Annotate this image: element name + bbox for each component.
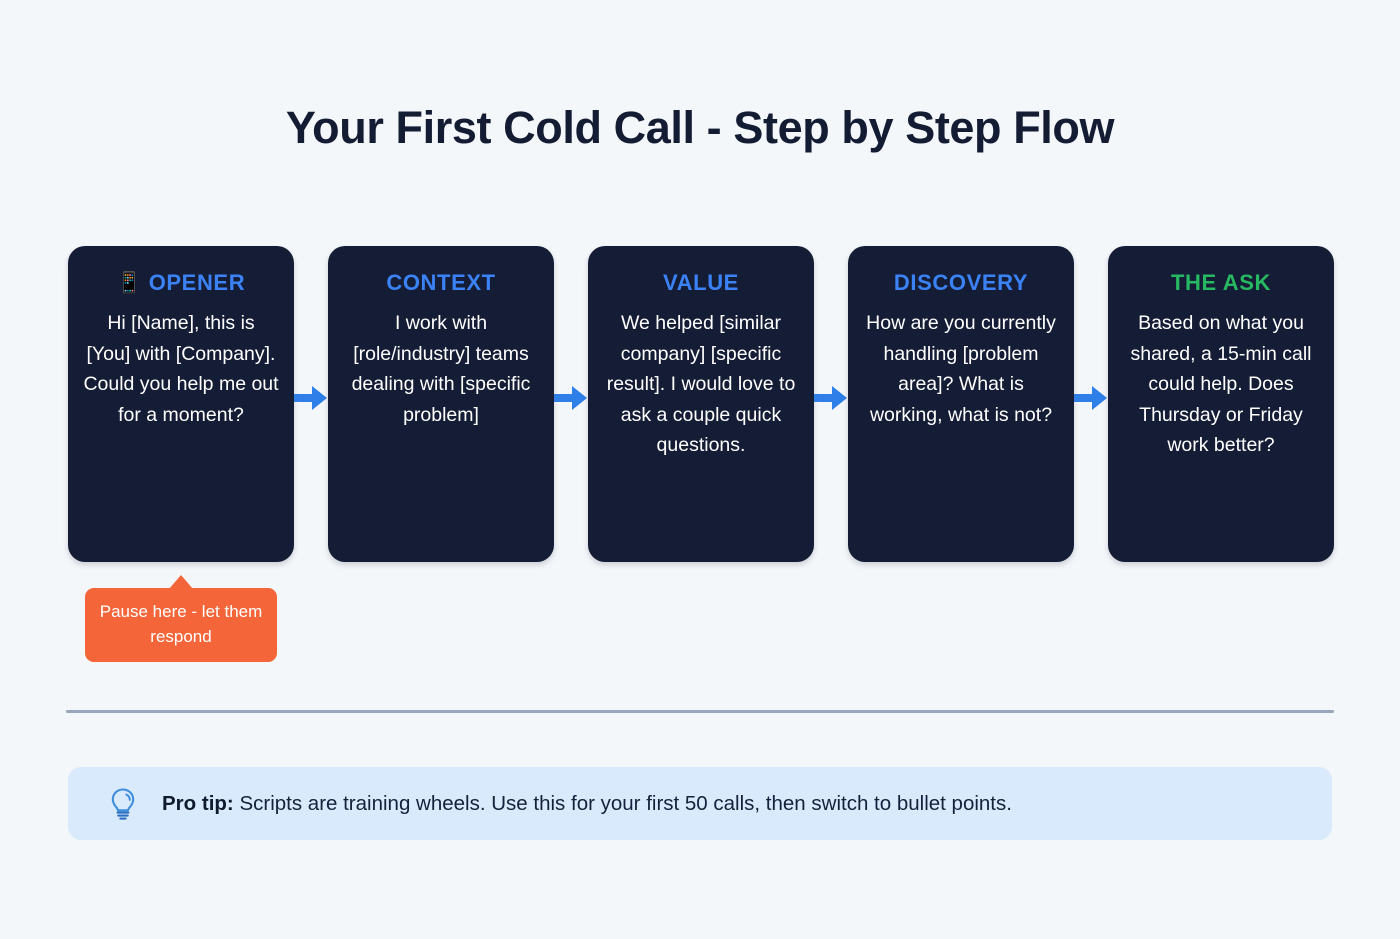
- step-label: CONTEXT: [386, 272, 495, 294]
- step-header: DISCOVERY: [894, 272, 1028, 294]
- step-body-text: How are you currently handling [problem …: [863, 308, 1059, 430]
- arrow-right-icon: [814, 383, 848, 413]
- pro-tip-text: Pro tip: Scripts are training wheels. Us…: [162, 790, 1012, 818]
- step-card-opener[interactable]: 📱 OPENER Hi [Name], this is [You] with […: [68, 246, 294, 562]
- step-label: THE ASK: [1171, 272, 1271, 294]
- step-header: VALUE: [663, 272, 739, 294]
- pro-tip-lead: Pro tip:: [162, 792, 234, 815]
- arrow-right-icon: [294, 383, 328, 413]
- arrow-right-icon: [554, 383, 588, 413]
- step-label: OPENER: [149, 272, 246, 294]
- step-body-text: Hi [Name], this is [You] with [Company].…: [83, 308, 279, 430]
- flow-steps-row: 📱 OPENER Hi [Name], this is [You] with […: [68, 246, 1332, 562]
- step-header: THE ASK: [1171, 272, 1271, 294]
- step-header: CONTEXT: [386, 272, 495, 294]
- step-card-discovery[interactable]: DISCOVERY How are you currently handling…: [848, 246, 1074, 562]
- pro-tip-bar: Pro tip: Scripts are training wheels. Us…: [68, 767, 1332, 840]
- callout-text: Pause here - let them respond: [100, 602, 263, 646]
- step-card-value[interactable]: VALUE We helped [similar company] [speci…: [588, 246, 814, 562]
- step-body-text: I work with [role/industry] teams dealin…: [343, 308, 539, 430]
- step-body-text: We helped [similar company] [specific re…: [603, 308, 799, 461]
- callout-pause-here: Pause here - let them respond: [85, 588, 277, 662]
- flow-infographic-page: Your First Cold Call - Step by Step Flow…: [0, 0, 1400, 939]
- section-divider: [66, 710, 1334, 713]
- step-card-context[interactable]: CONTEXT I work with [role/industry] team…: [328, 246, 554, 562]
- pro-tip-body: Scripts are training wheels. Use this fo…: [234, 792, 1012, 815]
- step-body-text: Based on what you shared, a 15-min call …: [1123, 308, 1319, 461]
- mobile-phone-icon: 📱: [117, 273, 142, 293]
- step-label: VALUE: [663, 272, 739, 294]
- page-title: Your First Cold Call - Step by Step Flow: [0, 98, 1400, 158]
- step-header: 📱 OPENER: [117, 272, 245, 294]
- callout-pointer-icon: [169, 575, 193, 589]
- step-card-the-ask[interactable]: THE ASK Based on what you shared, a 15-m…: [1108, 246, 1334, 562]
- arrow-right-icon: [1074, 383, 1108, 413]
- step-label: DISCOVERY: [894, 272, 1028, 294]
- lightbulb-icon: [108, 787, 138, 821]
